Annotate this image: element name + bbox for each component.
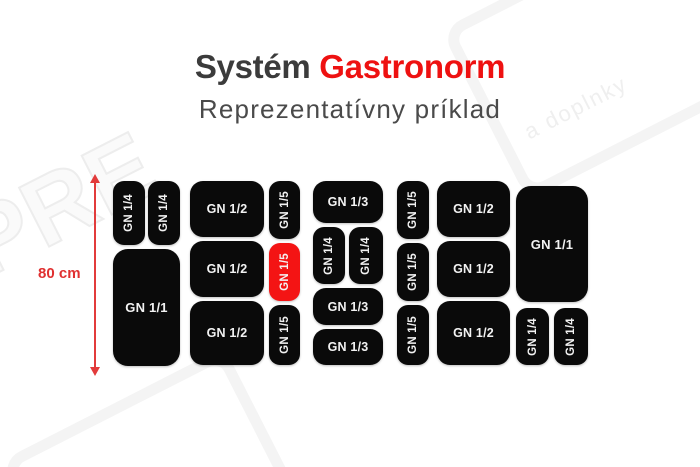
gn-pan-gn-1-4[interactable]: GN 1/4 — [148, 181, 180, 245]
gn-pan-gn-1-4[interactable]: GN 1/4 — [554, 308, 588, 365]
gn-pan-gn-1-4[interactable]: GN 1/4 — [313, 227, 345, 284]
gn-pan-gn-1-4[interactable]: GN 1/4 — [113, 181, 145, 245]
gn-pan-gn-1-5[interactable]: GN 1/5 — [269, 305, 300, 365]
gn-pan-gn-1-4[interactable]: GN 1/4 — [516, 308, 549, 365]
gn-pan-label: GN 1/4 — [323, 237, 335, 275]
gn-pan-label: GN 1/3 — [328, 300, 369, 314]
gn-pan-label: GN 1/4 — [565, 318, 577, 356]
gn-pan-gn-1-3[interactable]: GN 1/3 — [313, 288, 383, 325]
gn-pan-gn-1-1[interactable]: GN 1/1 — [516, 186, 588, 302]
gn-pan-gn-1-2[interactable]: GN 1/2 — [190, 301, 264, 365]
gn-pan-label: GN 1/1 — [125, 300, 167, 315]
gn-pan-label: GN 1/2 — [207, 326, 248, 340]
gn-pan-gn-1-5[interactable]: GN 1/5 — [397, 305, 429, 365]
gn-pan-label: GN 1/5 — [407, 191, 419, 229]
gn-pan-gn-1-5[interactable]: GN 1/5 — [269, 243, 300, 301]
gn-pan-label: GN 1/4 — [360, 237, 372, 275]
gn-pan-gn-1-3[interactable]: GN 1/3 — [313, 329, 383, 365]
gn-pan-label: GN 1/1 — [531, 237, 573, 252]
gn-pan-label: GN 1/2 — [453, 326, 494, 340]
gn-pan-label: GN 1/5 — [279, 253, 291, 291]
gn-pan-label: GN 1/3 — [328, 195, 369, 209]
pan-layout-grid: GN 1/4GN 1/4GN 1/1GN 1/2GN 1/2GN 1/2GN 1… — [0, 0, 700, 467]
gn-pan-gn-1-2[interactable]: GN 1/2 — [437, 181, 510, 237]
gn-pan-gn-1-3[interactable]: GN 1/3 — [313, 181, 383, 223]
gn-pan-label: GN 1/5 — [407, 316, 419, 354]
gn-pan-gn-1-2[interactable]: GN 1/2 — [437, 241, 510, 297]
gn-pan-gn-1-1[interactable]: GN 1/1 — [113, 249, 180, 366]
gn-pan-gn-1-5[interactable]: GN 1/5 — [397, 243, 429, 301]
gn-pan-gn-1-2[interactable]: GN 1/2 — [190, 241, 264, 297]
gn-pan-gn-1-4[interactable]: GN 1/4 — [349, 227, 383, 284]
gn-pan-label: GN 1/5 — [407, 253, 419, 291]
gn-pan-label: GN 1/2 — [453, 262, 494, 276]
gn-pan-label: GN 1/4 — [123, 194, 135, 232]
gn-pan-gn-1-5[interactable]: GN 1/5 — [269, 181, 300, 239]
gn-pan-label: GN 1/3 — [328, 340, 369, 354]
gn-pan-gn-1-2[interactable]: GN 1/2 — [437, 301, 510, 365]
gn-pan-label: GN 1/4 — [158, 194, 170, 232]
gn-pan-label: GN 1/4 — [527, 318, 539, 356]
gn-pan-label: GN 1/5 — [279, 316, 291, 354]
gastronorm-diagram: PRE a doplnky Systém Gastronorm Reprezen… — [0, 0, 700, 467]
gn-pan-gn-1-5[interactable]: GN 1/5 — [397, 181, 429, 239]
gn-pan-label: GN 1/5 — [279, 191, 291, 229]
gn-pan-label: GN 1/2 — [453, 202, 494, 216]
gn-pan-label: GN 1/2 — [207, 262, 248, 276]
gn-pan-gn-1-2[interactable]: GN 1/2 — [190, 181, 264, 237]
gn-pan-label: GN 1/2 — [207, 202, 248, 216]
